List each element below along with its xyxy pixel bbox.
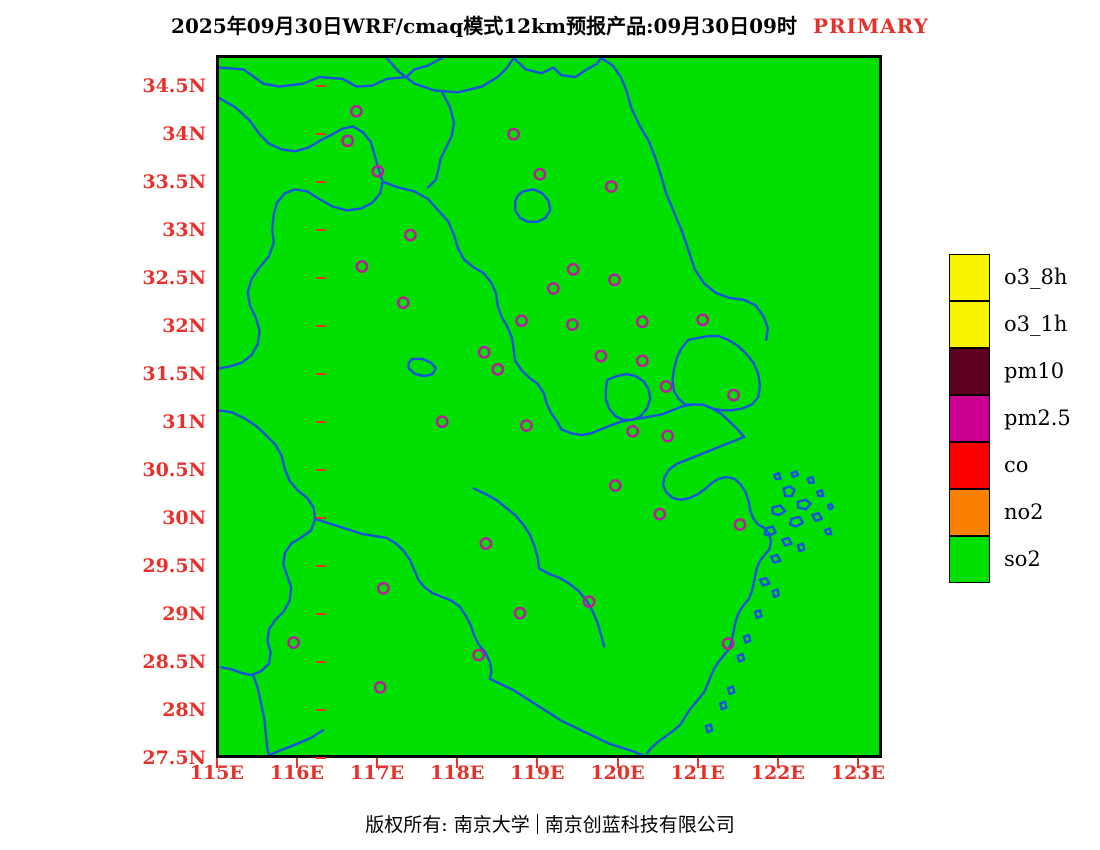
station-marker[interactable] — [655, 509, 665, 519]
title-main-text: 2025年09月30日WRF/cmaq模式12km预报产品:09月30日09时 — [171, 14, 797, 38]
y-axis-tick-mark — [316, 325, 326, 327]
boundary-line — [798, 544, 804, 552]
legend-item-label: o3_1h — [1004, 312, 1067, 336]
station-marker[interactable] — [357, 261, 367, 271]
station-marker[interactable] — [289, 637, 299, 647]
legend-color-swatch — [949, 489, 990, 536]
station-marker[interactable] — [698, 315, 708, 325]
y-axis-tick-label: 30N — [162, 507, 206, 529]
y-axis-tick-label: 34.5N — [142, 75, 206, 97]
legend-item-label: pm10 — [1004, 359, 1064, 383]
y-axis-tick-mark — [316, 181, 326, 183]
boundary-line — [269, 730, 323, 755]
province-boundary-lines — [219, 58, 833, 755]
boundary-line — [253, 675, 269, 755]
boundary-line — [773, 589, 779, 597]
boundary-line — [219, 98, 383, 243]
x-axis-tick-mark — [456, 758, 458, 768]
legend-item-label: pm2.5 — [1004, 406, 1071, 430]
y-axis-tick-label: 31N — [162, 411, 206, 433]
map-canvas — [219, 58, 879, 755]
station-marker[interactable] — [661, 381, 671, 391]
y-axis-tick-label: 32.5N — [142, 267, 206, 289]
y-axis-tick-mark — [316, 565, 326, 567]
x-axis-tick-mark — [216, 758, 218, 768]
station-marker[interactable] — [481, 538, 491, 548]
boundary-line — [812, 513, 822, 521]
x-axis-tick-mark — [376, 758, 378, 768]
station-marker[interactable] — [378, 583, 388, 593]
pollutant-legend: o3_8ho3_1hpm10pm2.5cono2so2 — [949, 253, 1071, 582]
boundary-line — [771, 555, 781, 563]
y-axis-tick-label: 28N — [162, 699, 206, 721]
boundary-line — [219, 243, 274, 369]
y-axis-tick-label: 29.5N — [142, 555, 206, 577]
boundary-line — [606, 374, 650, 420]
y-axis-tick-mark — [316, 469, 326, 471]
y-axis-tick-label: 30.5N — [142, 459, 206, 481]
legend-item-label: no2 — [1004, 500, 1044, 524]
boundary-line — [383, 182, 562, 430]
x-axis-tick-mark — [697, 758, 699, 768]
boundary-line — [219, 410, 315, 675]
footer-right-text: 南京创蓝科技有限公司 — [545, 814, 735, 836]
legend-color-swatch — [949, 442, 990, 489]
station-marker[interactable] — [548, 283, 558, 293]
station-marker[interactable] — [516, 316, 526, 326]
y-axis-tick-label: 31.5N — [142, 363, 206, 385]
footer-divider — [537, 814, 538, 834]
legend-color-swatch — [949, 536, 990, 583]
legend-item-co[interactable]: co — [949, 441, 1071, 488]
boundary-line — [663, 437, 750, 511]
boundary-line — [790, 517, 803, 527]
legend-color-swatch — [949, 301, 990, 348]
y-axis-tick-mark — [316, 613, 326, 615]
y-axis-tick-mark — [316, 373, 326, 375]
boundary-line — [474, 488, 539, 568]
station-marker[interactable] — [343, 136, 353, 146]
boundary-line — [784, 487, 795, 497]
y-axis-tick-mark — [316, 517, 326, 519]
boundary-line — [825, 528, 831, 534]
station-marker[interactable] — [437, 417, 447, 427]
boundary-line — [315, 519, 491, 679]
x-axis-tick-mark — [536, 758, 538, 768]
legend-item-o31h[interactable]: o3_1h — [949, 300, 1071, 347]
boundary-line — [817, 490, 823, 496]
station-markers-layer — [289, 106, 746, 692]
footer-left-text: 版权所有: 南京大学 — [365, 814, 529, 836]
x-axis-tick-mark — [857, 758, 859, 768]
y-axis-tick-label: 33.5N — [142, 171, 206, 193]
station-marker[interactable] — [729, 390, 739, 400]
x-axis-tick-mark — [617, 758, 619, 768]
legend-color-swatch — [949, 348, 990, 395]
boundary-line — [672, 340, 692, 405]
boundary-line — [688, 336, 759, 410]
y-axis-tick-label: 32N — [162, 315, 206, 337]
legend-color-swatch — [949, 395, 990, 442]
station-marker[interactable] — [637, 317, 647, 327]
legend-item-o38h[interactable]: o3_8h — [949, 253, 1071, 300]
boundary-line — [798, 500, 811, 510]
y-axis-tick-mark — [316, 709, 326, 711]
boundary-line — [738, 654, 744, 662]
boundary-line — [219, 58, 442, 87]
station-marker[interactable] — [375, 682, 385, 692]
map-plot-area[interactable] — [216, 55, 882, 758]
boundary-line — [387, 58, 514, 92]
boundary-line — [755, 610, 761, 618]
boundary-line — [774, 473, 780, 479]
station-marker[interactable] — [479, 347, 489, 357]
y-axis-tick-mark — [316, 229, 326, 231]
boundary-line — [760, 578, 770, 586]
station-marker[interactable] — [474, 650, 484, 660]
y-axis-tick-mark — [316, 757, 326, 759]
boundary-line — [647, 511, 771, 753]
station-marker[interactable] — [351, 106, 361, 116]
boundary-line — [792, 471, 798, 477]
boundary-line — [828, 504, 833, 510]
boundary-line — [706, 725, 712, 733]
boundary-line — [601, 58, 768, 340]
station-marker[interactable] — [567, 319, 577, 329]
y-axis: 34.5N34N33.5N33N32.5N32N31.5N31N30.5N30N… — [110, 0, 206, 850]
legend-color-swatch — [949, 254, 990, 301]
station-marker[interactable] — [606, 181, 616, 191]
station-marker[interactable] — [405, 230, 415, 240]
station-marker[interactable] — [609, 275, 619, 285]
station-marker[interactable] — [628, 426, 638, 436]
boundary-line — [744, 635, 750, 643]
boundary-line — [490, 679, 643, 755]
station-marker[interactable] — [509, 129, 519, 139]
x-axis-tick-mark — [296, 758, 298, 768]
boundary-line — [514, 58, 601, 77]
legend-item-label: co — [1004, 453, 1028, 477]
y-axis-tick-mark — [316, 421, 326, 423]
legend-item-no2[interactable]: no2 — [949, 488, 1071, 535]
title-primary-badge: PRIMARY — [813, 14, 929, 38]
boundary-line — [728, 686, 734, 694]
copyright-footer: 版权所有: 南京大学南京创蓝科技有限公司 — [0, 810, 1100, 837]
legend-item-pm10[interactable]: pm10 — [949, 347, 1071, 394]
legend-item-label: so2 — [1004, 547, 1041, 571]
y-axis-tick-mark — [316, 661, 326, 663]
station-marker[interactable] — [568, 264, 578, 274]
legend-item-label: o3_8h — [1004, 265, 1067, 289]
legend-item-pm25[interactable]: pm2.5 — [949, 394, 1071, 441]
legend-item-so2[interactable]: so2 — [949, 535, 1071, 582]
boundary-line — [428, 92, 454, 187]
station-marker[interactable] — [535, 169, 545, 179]
boundary-line — [773, 506, 786, 516]
station-marker[interactable] — [515, 608, 525, 618]
y-axis-tick-label: 29N — [162, 603, 206, 625]
station-marker[interactable] — [637, 356, 647, 366]
y-axis-tick-mark — [316, 133, 326, 135]
y-axis-tick-mark — [316, 277, 326, 279]
boundary-line — [409, 359, 436, 376]
boundary-line — [720, 702, 726, 710]
station-marker[interactable] — [610, 480, 620, 490]
station-marker[interactable] — [663, 431, 673, 441]
station-marker[interactable] — [493, 364, 503, 374]
boundary-line — [782, 538, 792, 546]
boundary-line — [515, 189, 550, 221]
y-axis-tick-label: 34N — [162, 123, 206, 145]
station-marker[interactable] — [735, 519, 745, 529]
y-axis-tick-label: 28.5N — [142, 651, 206, 673]
y-axis-tick-label: 33N — [162, 219, 206, 241]
boundary-line — [808, 477, 814, 483]
station-marker[interactable] — [596, 351, 606, 361]
x-axis-tick-mark — [777, 758, 779, 768]
boundary-line — [765, 526, 776, 536]
station-marker[interactable] — [521, 420, 531, 430]
station-marker[interactable] — [398, 298, 408, 308]
boundary-line — [539, 568, 604, 646]
y-axis-tick-mark — [316, 85, 326, 87]
